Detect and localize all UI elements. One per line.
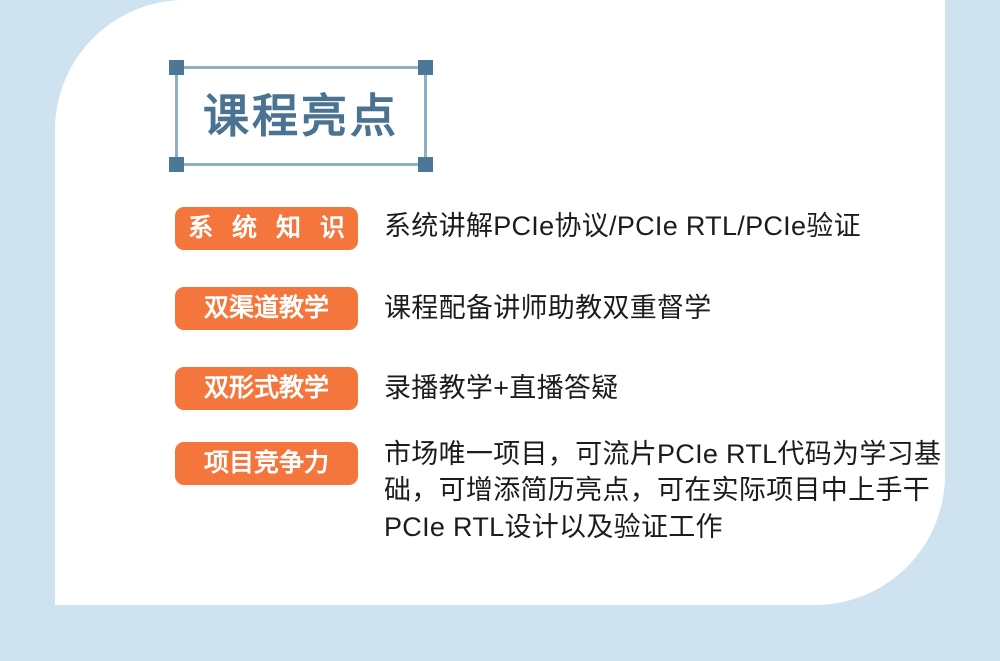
- feature-badge-dual-format-teaching: 双形式教学: [175, 367, 358, 410]
- poster-root: 课程亮点 系 统 知 识 系统讲解PCIe协议/PCIe RTL/PCIe验证 …: [0, 0, 1000, 661]
- feature-row: 系 统 知 识 系统讲解PCIe协议/PCIe RTL/PCIe验证: [175, 207, 975, 250]
- feature-description-dual-channel-teaching: 课程配备讲师助教双重督学: [384, 290, 975, 326]
- feature-row: 双形式教学 录播教学+直播答疑: [175, 367, 975, 410]
- content-card: 课程亮点 系 统 知 识 系统讲解PCIe协议/PCIe RTL/PCIe验证 …: [55, 0, 945, 605]
- page-title: 课程亮点: [175, 66, 427, 166]
- feature-badge-dual-channel-teaching: 双渠道教学: [175, 287, 358, 330]
- feature-description-project-competitiveness: 市场唯一项目，可流片PCIe RTL代码为学习基础，可增添简历亮点，可在实际项目…: [384, 436, 975, 545]
- feature-description-system-knowledge: 系统讲解PCIe协议/PCIe RTL/PCIe验证: [384, 208, 975, 244]
- section-title-frame: 课程亮点: [175, 66, 427, 166]
- feature-badge-system-knowledge: 系 统 知 识: [175, 207, 358, 250]
- feature-row: 项目竞争力 市场唯一项目，可流片PCIe RTL代码为学习基础，可增添简历亮点，…: [175, 442, 975, 545]
- feature-row: 双渠道教学 课程配备讲师助教双重督学: [175, 287, 975, 330]
- feature-badge-project-competitiveness: 项目竞争力: [175, 442, 358, 485]
- feature-list: 系 统 知 识 系统讲解PCIe协议/PCIe RTL/PCIe验证 双渠道教学…: [175, 200, 975, 545]
- feature-description-dual-format-teaching: 录播教学+直播答疑: [384, 370, 975, 406]
